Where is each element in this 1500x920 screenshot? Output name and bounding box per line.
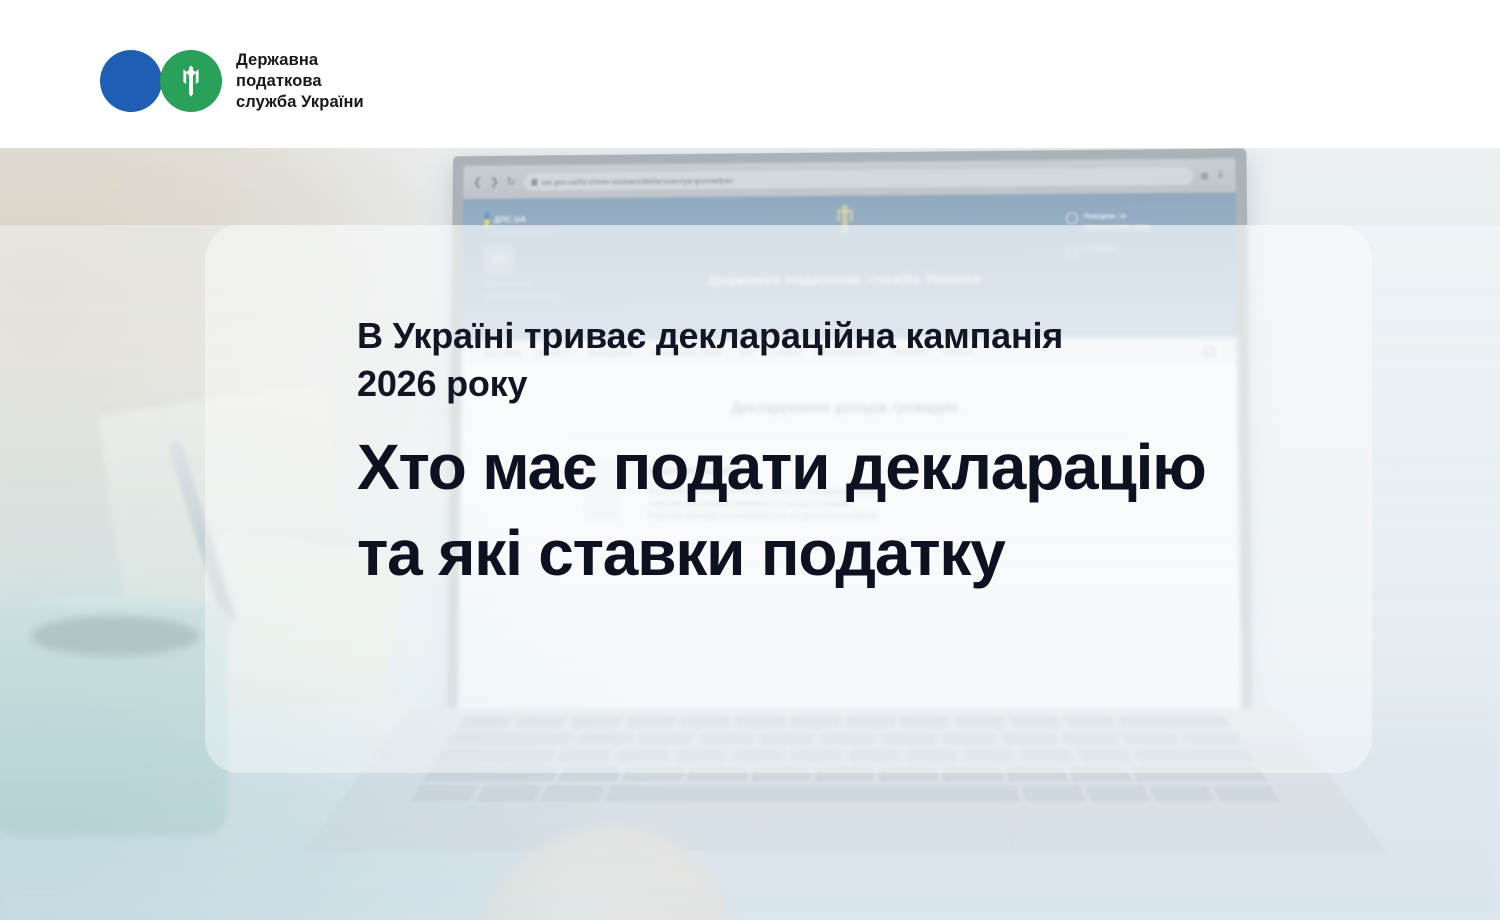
- logo-marks: [100, 46, 222, 116]
- logo-text-line-1: Державна: [236, 51, 318, 69]
- poster-canvas: ❮ ❯ ↻ tax.gov.ua/fizichnim-osobam/deklar…: [0, 0, 1500, 920]
- blue-circle-icon: [100, 50, 162, 112]
- page-title: Хто має подати декларацію та які ставки …: [357, 424, 1257, 596]
- logo-text-line-2: податкова: [236, 72, 322, 90]
- logo[interactable]: Державна податкова служба України: [100, 46, 364, 116]
- page-header: Державна податкова служба України: [0, 0, 1500, 148]
- trident-icon: [178, 64, 204, 98]
- poster-text-block: В Україні триває декларацiйна кампанія 2…: [357, 312, 1297, 596]
- kicker-text: В Україні триває декларацiйна кампанія 2…: [357, 312, 1117, 408]
- logo-text: Державна податкова служба України: [236, 50, 364, 113]
- green-circle-icon: [160, 50, 222, 112]
- logo-text-line-3: служба України: [236, 93, 364, 111]
